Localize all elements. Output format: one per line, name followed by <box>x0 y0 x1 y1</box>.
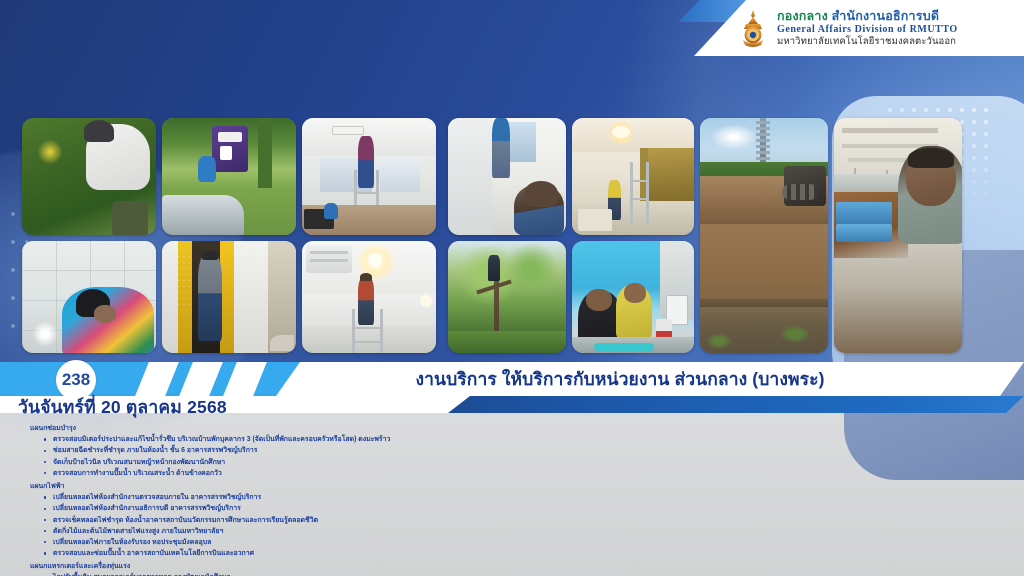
list-item: ตรวจเช็คหลอดไฟชำรุด ห้องน้ำอาคารสถาบันนว… <box>44 515 670 526</box>
list-item: จัดเก็บป้ายไวนิล บริเวณสนามหญ้าหน้ากองพั… <box>44 457 670 468</box>
brand-line-university: มหาวิทยาลัยเทคโนโลยีราชมงคลตะวันออก <box>777 36 958 47</box>
photo-water-delivery-shed <box>834 118 962 353</box>
list-item: ตรวจสอบการทำงานปั๊มน้ำ บริเวณสระน้ำ ด้าน… <box>44 468 670 479</box>
section-electrical: แผนกไฟฟ้า เปลี่ยนหลอดไฟห้องสำนักงานตรวจส… <box>30 481 670 559</box>
section-item-list: ไถปรับพื้นดิน สนามวอลเลย์บอลชายหาด กองพั… <box>44 572 670 576</box>
page-title: งานบริการ ให้บริการกับหน่วยงาน ส่วนกลาง … <box>300 362 940 396</box>
university-crest-icon <box>738 8 768 48</box>
photo-field-tractor-grading <box>700 118 828 353</box>
section-maintenance: แผนกซ่อมบำรุง ตรวจสอบมิเตอร์ประปาและแก้ไ… <box>30 423 670 479</box>
list-item: เปลี่ยนหลอดไฟภายในห้องรับรอง หอประชุมมัง… <box>44 537 670 548</box>
photo-yellow-gate-inspection <box>162 241 296 353</box>
photo-mosaic <box>22 118 954 353</box>
photo-pump-control-panel <box>572 241 694 353</box>
photo-bathroom-repair <box>22 241 156 353</box>
report-date: วันจันทร์ที่ 20 ตุลาคม 2568 <box>18 396 227 418</box>
section-tractor: แผนกแทรกเตอร์และเครื่องทุ่นแรง ไถปรับพื้… <box>30 561 670 576</box>
list-item: เปลี่ยนหลอดไฟห้องสำนักงานอธิการบดี อาคาร… <box>44 503 670 514</box>
brand-header: กองกลาง สำนักงานอธิการบดี General Affair… <box>694 0 1024 56</box>
photo-parking-sign-outdoor <box>162 118 296 235</box>
photo-tree-trimming <box>448 241 566 353</box>
slide-canvas: กองกลาง สำนักงานอธิการบดี General Affair… <box>0 0 1024 576</box>
list-item: ซ่อมสายฉีดชำระที่ชำรุด ภายในห้องน้ำ ชั้น… <box>44 445 670 456</box>
list-item: ตัดกิ่งไม้และต้นไม้พาดสายไฟแรงสูง ภายในม… <box>44 526 670 537</box>
list-item: ตรวจสอบและซ่อมปั๊มน้ำ อาคารสถาบันเทคโนโล… <box>44 548 670 559</box>
report-body: แผนกซ่อมบำรุง ตรวจสอบมิเตอร์ประปาและแก้ไ… <box>30 421 670 576</box>
list-item: ไถปรับพื้นดิน สนามวอลเลย์บอลชายหาด กองพั… <box>44 572 670 576</box>
list-item: ตรวจสอบมิเตอร์ประปาและแก้ไขน้ำรั่วซึม บร… <box>44 434 670 445</box>
brand-office-name: กองกลาง <box>777 9 828 23</box>
photo-water-meter-foliage <box>22 118 156 235</box>
section-heading: แผนกซ่อมบำรุง <box>30 423 670 434</box>
photo-ceiling-light-ladder <box>302 241 436 353</box>
photo-office-light-replacement <box>302 118 436 235</box>
list-item: เปลี่ยนหลอดไฟห้องสำนักงานตรวจสอบภายใน อา… <box>44 492 670 503</box>
brand-line-english: General Affairs Division of RMUTTO <box>777 24 958 36</box>
section-item-list: เปลี่ยนหลอดไฟห้องสำนักงานตรวจสอบภายใน อา… <box>44 492 670 559</box>
photo-meeting-room-ladder <box>572 118 694 235</box>
section-heading: แผนกไฟฟ้า <box>30 481 670 492</box>
brand-line-thai-main: กองกลาง สำนักงานอธิการบดี <box>777 9 958 24</box>
photo-corridor-worker-ladder <box>448 118 566 235</box>
section-item-list: ตรวจสอบมิเตอร์ประปาและแก้ไขน้ำรั่วซึม บร… <box>44 434 670 479</box>
brand-office-sub: สำนักงานอธิการบดี <box>832 9 940 23</box>
section-heading: แผนกแทรกเตอร์และเครื่องทุ่นแรง <box>30 561 670 572</box>
